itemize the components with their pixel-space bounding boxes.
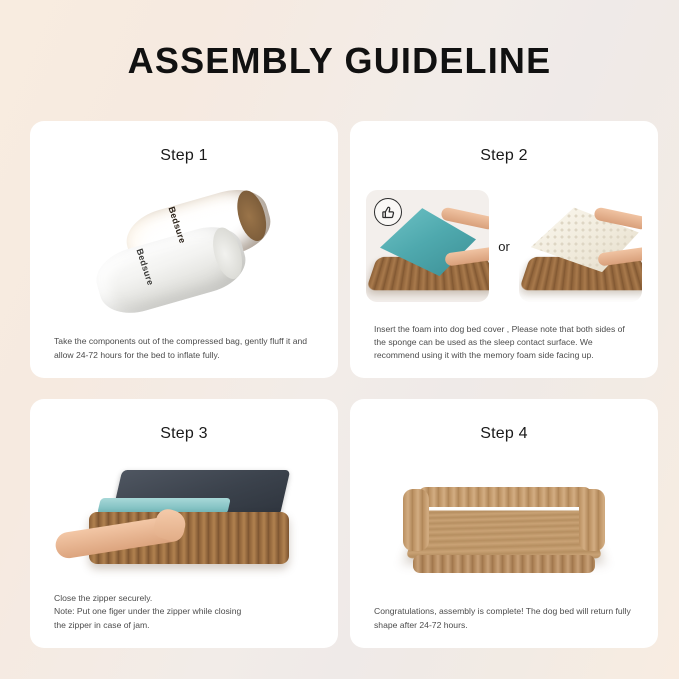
- step-3-illustration: [46, 447, 322, 592]
- step-4-title: Step 4: [366, 425, 642, 443]
- step-card-1: Step 1 Bedsure Bedsure Take the componen…: [30, 121, 338, 378]
- steps-grid: Step 1 Bedsure Bedsure Take the componen…: [30, 121, 650, 648]
- step-3-caption-line-3: the zipper in case of jam.: [54, 619, 314, 632]
- page-title: ASSEMBLY GUIDELINE: [0, 40, 679, 82]
- foam-teal-photo: [366, 190, 489, 302]
- step-1-title: Step 1: [46, 147, 322, 165]
- dual-photo-group: or: [366, 190, 642, 302]
- bolster-front: [413, 555, 595, 573]
- step-3-caption-line-2: Note: Put one figer under the zipper whi…: [54, 605, 314, 618]
- compressed-bags-graphic: Bedsure Bedsure: [84, 192, 284, 312]
- step-3-title: Step 3: [46, 425, 322, 443]
- bolster-back: [419, 487, 591, 507]
- step-1-illustration: Bedsure Bedsure: [46, 169, 322, 335]
- finished-bed-graphic: [389, 471, 619, 581]
- assembly-guideline-page: ASSEMBLY GUIDELINE Step 1 Bedsure Bedsur…: [0, 0, 679, 679]
- step-3-caption: Close the zipper securely. Note: Put one…: [46, 592, 322, 632]
- or-separator: or: [498, 239, 510, 254]
- step-card-2: Step 2: [350, 121, 658, 378]
- step-1-caption: Take the components out of the compresse…: [46, 335, 322, 362]
- step-2-caption: Insert the foam into dog bed cover , Ple…: [366, 323, 642, 362]
- foam-memory-photo: [519, 190, 642, 302]
- step-2-title: Step 2: [366, 147, 642, 165]
- bolster-right: [579, 489, 605, 551]
- bed-mattress: [405, 511, 603, 559]
- step-card-3: Step 3 Close the zipper securely. Note: …: [30, 399, 338, 648]
- zipper-close-graphic: [59, 462, 309, 577]
- step-4-caption: Congratulations, assembly is complete! T…: [366, 605, 642, 632]
- step-card-4: Step 4 Congratulations, assembly is comp…: [350, 399, 658, 648]
- step-2-illustration: or: [366, 169, 642, 323]
- thumbs-up-icon: [374, 198, 402, 226]
- step-4-illustration: [366, 447, 642, 605]
- bolster-left: [403, 489, 429, 551]
- step-3-caption-line-1: Close the zipper securely.: [54, 592, 314, 605]
